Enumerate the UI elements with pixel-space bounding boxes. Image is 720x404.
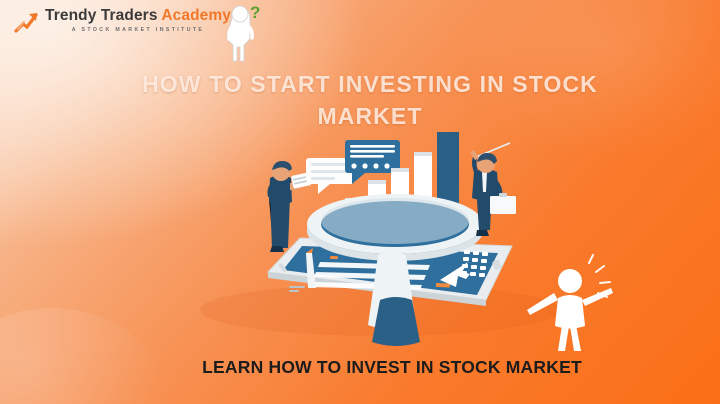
trend-arrow-icon [14, 10, 40, 34]
clipboard-icon [291, 172, 311, 188]
footer-tagline: LEARN HOW TO INVEST IN STOCK MARKET [202, 357, 582, 378]
brand-logo[interactable]: Trendy Traders Academy A STOCK MARKET IN… [14, 8, 231, 34]
brand-name-primary: Trendy Traders [45, 7, 161, 24]
brand-name: Trendy Traders Academy [45, 8, 231, 24]
brand-tagline: A STOCK MARKET INSTITUTE [45, 28, 231, 33]
illustration-group: ? [0, 0, 720, 404]
celebrating-silhouette [527, 255, 613, 351]
footer-banner: LEARN HOW TO INVEST IN STOCK MARKET [178, 352, 606, 382]
question-mark-figure: ? [227, 3, 260, 61]
page-title: HOW TO START INVESTING IN STOCK MARKET [120, 69, 620, 132]
brand-name-accent: Academy [161, 7, 231, 24]
svg-text:?: ? [250, 3, 260, 22]
briefcase-icon [490, 196, 516, 214]
poster-canvas: ? [0, 0, 720, 404]
